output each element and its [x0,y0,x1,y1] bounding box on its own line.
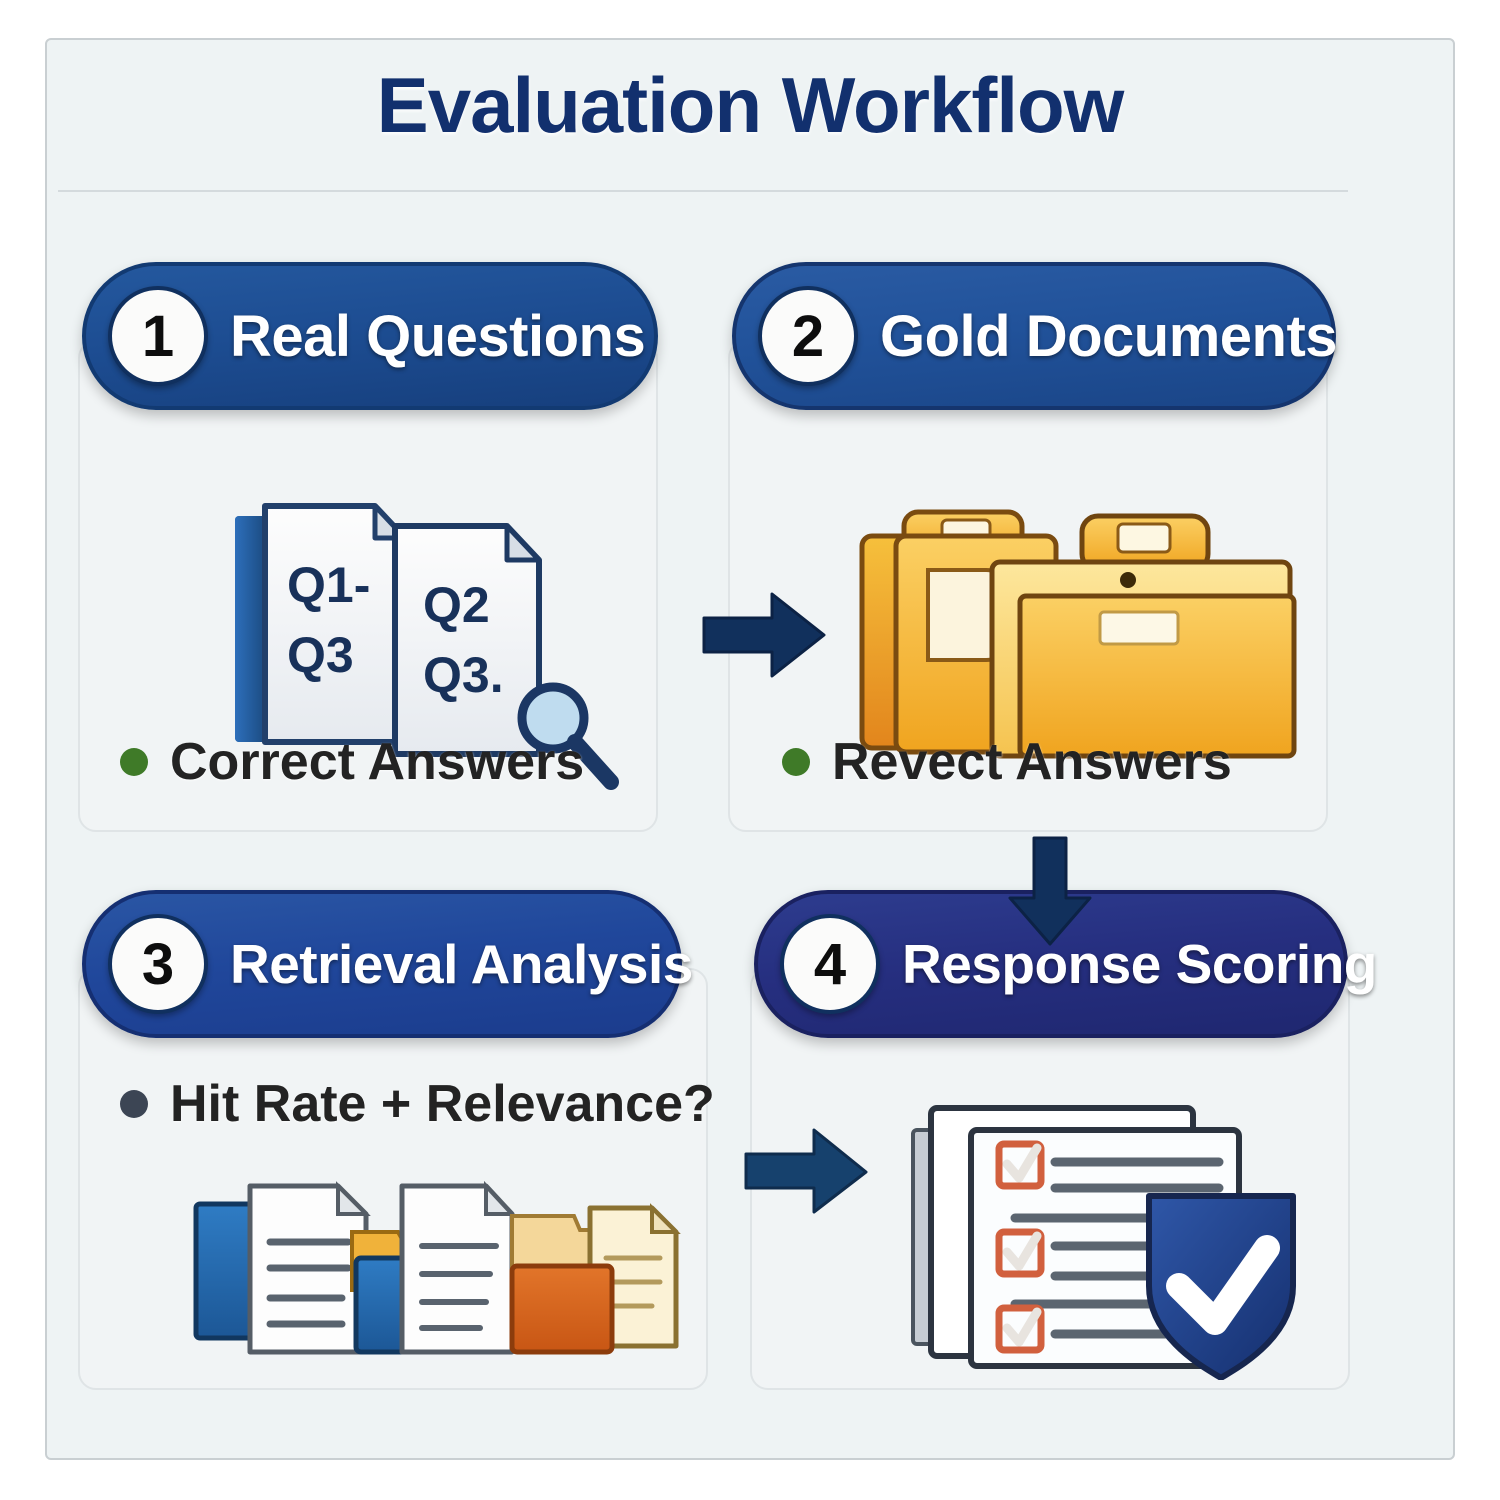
step-2-label: Gold Documents [880,303,1337,370]
step-1-header[interactable]: 1 Real Questions [82,262,658,410]
step-3-caption-text: Hit Rate + Relevance? [170,1074,715,1134]
step-2-caption: Revect Answers [782,732,1232,792]
step-4-number-badge: 4 [780,914,880,1014]
arrow-step1-to-step2-icon [700,580,830,690]
step-4-label: Response Scoring [902,932,1377,996]
step-3-header[interactable]: 3 Retrieval Analysis [82,890,682,1038]
step-2-header[interactable]: 2 Gold Documents [732,262,1336,410]
bullet-dot-icon [782,748,810,776]
step-1-caption-text: Correct Answers [170,732,584,792]
step-2-number-badge: 2 [758,286,858,386]
step-1-label: Real Questions [230,303,645,370]
step-card-3[interactable]: Hit Rate + Relevance? [78,890,708,1390]
bullet-dot-icon [120,1090,148,1118]
step-3-label: Retrieval Analysis [230,932,693,996]
diagram-canvas: Evaluation Workflow [0,0,1500,1500]
step-2-caption-text: Revect Answers [832,732,1232,792]
mixed-folders-documents-icon [190,1170,730,1370]
arrow-step2-to-step4-icon [1000,836,1100,948]
workflow-grid: Q1- Q3 Q2 Q3. Correct Answers 1 Real Que… [0,0,1410,1422]
step-3-caption: Hit Rate + Relevance? [120,1074,715,1134]
step-3-number-badge: 3 [108,914,208,1014]
step-card-2[interactable]: Revect Answers 2 Gold Documents [728,262,1328,832]
bullet-dot-icon [120,748,148,776]
arrow-step3-to-step4-icon [742,1118,872,1226]
step-1-caption: Correct Answers [120,732,584,792]
checklist-shield-icon [907,1090,1307,1380]
svg-text:Q3.: Q3. [423,647,504,703]
svg-text:Q3: Q3 [287,627,354,683]
step-card-1[interactable]: Q1- Q3 Q2 Q3. Correct Answers 1 Real Que… [78,262,658,832]
svg-text:Q1-: Q1- [287,557,370,613]
step-card-1-body: Q1- Q3 Q2 Q3. Correct Answers [78,340,658,832]
svg-text:Q2: Q2 [423,577,490,633]
step-1-number-badge: 1 [108,286,208,386]
